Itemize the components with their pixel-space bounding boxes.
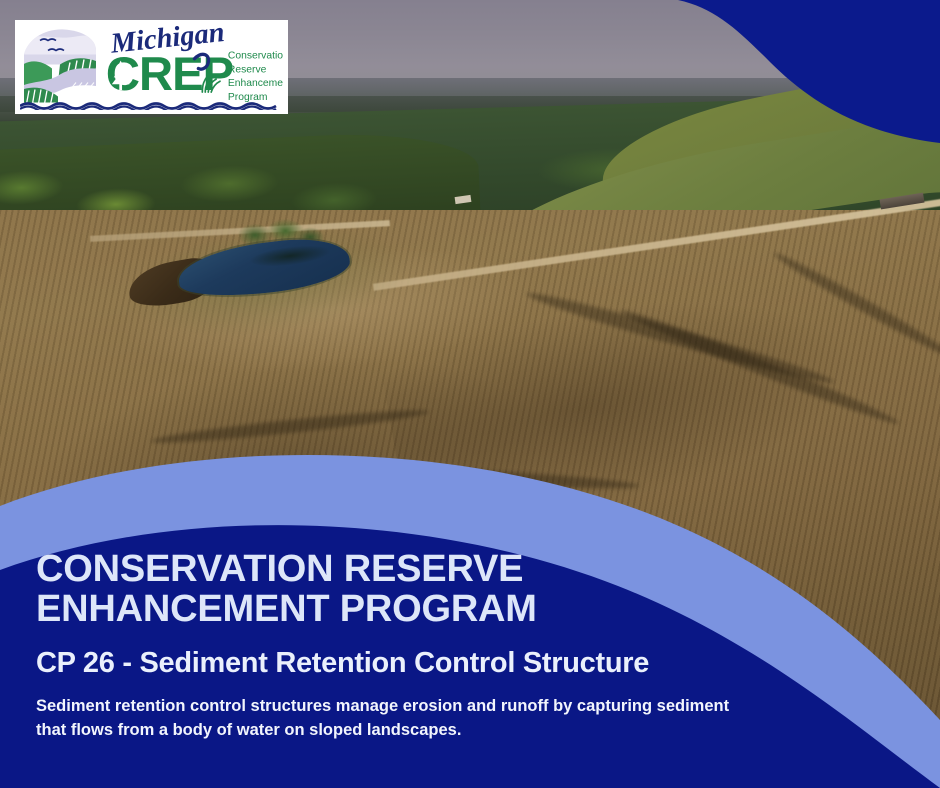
practice-subtitle: CP 26 - Sediment Retention Control Struc… [36, 647, 826, 679]
crep-practice-poster: CONSERVATION RESERVE ENHANCEMENT PROGRAM… [0, 0, 940, 788]
top-right-curve-decoration [620, 0, 940, 150]
page-title: CONSERVATION RESERVE ENHANCEMENT PROGRAM [36, 549, 826, 630]
crep-wordmark: Michigan CREP [100, 24, 283, 111]
logo-acronym-crep: CREP [106, 48, 233, 101]
logo-water-wave [20, 100, 283, 110]
michigan-crep-logo: Michigan CREP [15, 20, 288, 114]
logo-wordmark: Michigan CREP [100, 24, 283, 111]
headline-line-2: ENHANCEMENT PROGRAM [36, 588, 537, 630]
practice-text-block: CONSERVATION RESERVE ENHANCEMENT PROGRAM… [36, 549, 826, 742]
headline-line-1: CONSERVATION RESERVE [36, 548, 523, 590]
practice-description: Sediment retention control structures ma… [36, 695, 756, 742]
logo-expansion-line-1: Reserve [228, 64, 267, 75]
farm-landscape-icon [20, 24, 100, 111]
logo-expansion-text: Conservation Reserve Enhancement Program [228, 51, 283, 103]
logo-expansion-line-2: Enhancement [228, 78, 283, 89]
logo-expansion-line-0: Conservation [228, 51, 283, 62]
